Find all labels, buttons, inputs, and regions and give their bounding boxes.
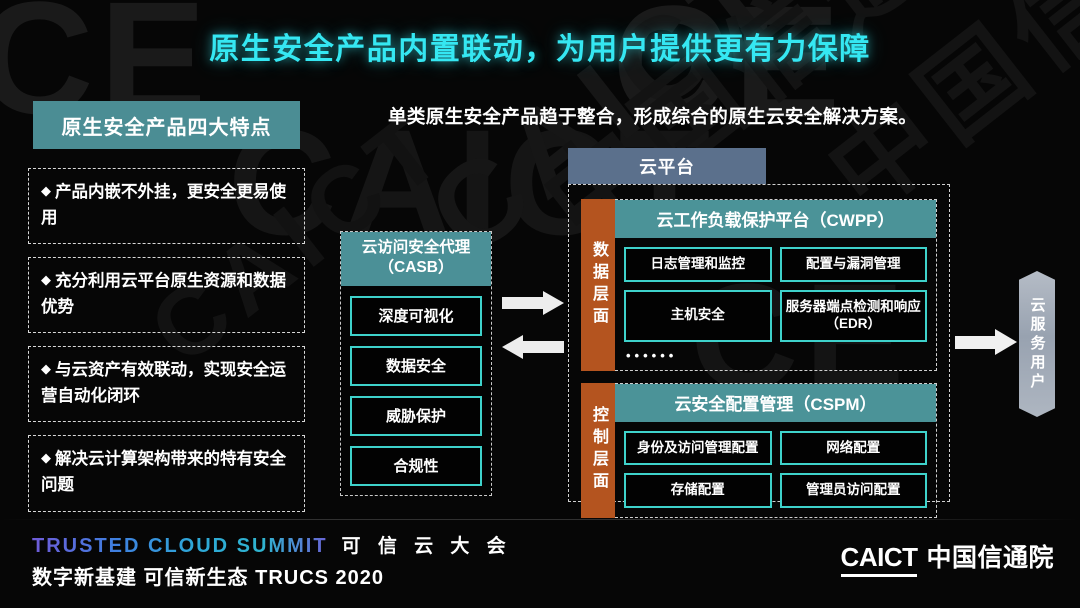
footer-divider xyxy=(0,519,1080,520)
arrow-shaft xyxy=(955,336,997,349)
cwpp-cell: 配置与漏洞管理 xyxy=(780,247,928,282)
list-item-label: 与云资产有效联动，实现安全运营自动化闭环 xyxy=(41,361,286,405)
arrow-left-icon xyxy=(502,336,564,358)
cspm-grid: 身份及访问管理配置 网络配置 存储配置 管理员访问配置 xyxy=(615,422,936,517)
layer-side-label: 控制层面 xyxy=(581,383,615,518)
diamond-bullet-icon: ◆ xyxy=(41,361,51,376)
footer-brand-en: TRUSTED CLOUD SUMMIT xyxy=(32,535,328,558)
list-item: ◆与云资产有效联动，实现安全运营自动化闭环 xyxy=(28,346,305,422)
footer-brand-row: TRUSTED CLOUD SUMMIT 可 信 云 大 会 xyxy=(32,531,512,558)
bidirectional-arrows xyxy=(502,292,576,358)
layer-data: 数据层面 云工作负载保护平台（CWPP） 日志管理和监控 配置与漏洞管理 主机安… xyxy=(581,199,937,371)
list-item-label: 解决云计算架构带来的特有安全问题 xyxy=(41,450,286,494)
list-item-label: 充分利用云平台原生资源和数据优势 xyxy=(41,272,286,316)
arrow-shaft xyxy=(522,341,564,353)
layer-body: 云工作负载保护平台（CWPP） 日志管理和监控 配置与漏洞管理 主机安全 服务器… xyxy=(615,199,937,371)
arrow-shaft xyxy=(502,297,544,309)
casb-item: 数据安全 xyxy=(350,346,482,386)
cwpp-grid: 日志管理和监控 配置与漏洞管理 主机安全 服务器端点检测和响应（EDR） xyxy=(615,238,936,346)
list-item: ◆产品内嵌不外挂，更安全更易使用 xyxy=(28,168,305,244)
org-abbr: CAICT xyxy=(841,542,918,577)
feature-list: ◆产品内嵌不外挂，更安全更易使用 ◆充分利用云平台原生资源和数据优势 ◆与云资产… xyxy=(28,168,305,525)
arrow-right-icon xyxy=(955,330,1017,354)
footer-brand: TRUSTED CLOUD SUMMIT 可 信 云 大 会 数字新基建 可信新… xyxy=(32,531,512,590)
cwpp-cell: 主机安全 xyxy=(624,290,772,342)
list-item-label: 产品内嵌不外挂，更安全更易使用 xyxy=(41,183,286,227)
arrow-right-icon xyxy=(502,292,564,314)
footer-brand-cn: 可 信 云 大 会 xyxy=(342,531,512,558)
arrow-head xyxy=(543,291,564,315)
diamond-bullet-icon: ◆ xyxy=(41,450,51,465)
slide-root: CE CE CAICT CE CAICT 中国信通院 中国信通院 CAICT 原… xyxy=(0,0,1080,608)
slide-subtitle: 单类原生安全产品趋于整合，形成综合的原生云安全解决方案。 xyxy=(388,103,917,129)
layer-side-label: 数据层面 xyxy=(581,199,615,371)
list-item: ◆充分利用云平台原生资源和数据优势 xyxy=(28,257,305,333)
cspm-cell: 身份及访问管理配置 xyxy=(624,431,772,466)
slide-title-bar: 原生安全产品内置联动，为用户提供更有力保障 xyxy=(0,24,1080,68)
list-item: ◆解决云计算架构带来的特有安全问题 xyxy=(28,435,305,511)
left-panel-heading: 原生安全产品四大特点 xyxy=(33,101,300,149)
casb-title: 云访问安全代理（CASB） xyxy=(341,232,491,286)
casb-item: 合规性 xyxy=(350,446,482,486)
cspm-cell: 网络配置 xyxy=(780,431,928,466)
cspm-cell: 管理员访问配置 xyxy=(780,473,928,508)
cloud-platform-heading: 云平台 xyxy=(568,148,766,184)
diamond-bullet-icon: ◆ xyxy=(41,272,51,287)
layer-control: 控制层面 云安全配置管理（CSPM） 身份及访问管理配置 网络配置 存储配置 管… xyxy=(581,383,937,518)
cwpp-cell: 日志管理和监控 xyxy=(624,247,772,282)
cloud-service-user-badge: 云服务用户 xyxy=(1019,271,1055,417)
page-title: 原生安全产品内置联动，为用户提供更有力保障 xyxy=(0,24,1080,68)
cloud-platform-box: 数据层面 云工作负载保护平台（CWPP） 日志管理和监控 配置与漏洞管理 主机安… xyxy=(568,184,950,502)
ellipsis-indicator: •••••• xyxy=(615,346,936,370)
footer-tagline: 数字新基建 可信新生态 TRUCS 2020 xyxy=(32,561,512,590)
casb-item-list: 深度可视化 数据安全 威胁保护 合规性 xyxy=(341,286,491,486)
cwpp-title: 云工作负载保护平台（CWPP） xyxy=(615,200,936,238)
cwpp-cell: 服务器端点检测和响应（EDR） xyxy=(780,290,928,342)
cspm-cell: 存储配置 xyxy=(624,473,772,508)
diamond-bullet-icon: ◆ xyxy=(41,183,51,198)
cspm-title: 云安全配置管理（CSPM） xyxy=(615,384,936,422)
casb-panel: 云访问安全代理（CASB） 深度可视化 数据安全 威胁保护 合规性 xyxy=(340,231,492,496)
casb-item: 深度可视化 xyxy=(350,296,482,336)
arrow-head xyxy=(502,335,523,359)
layer-body: 云安全配置管理（CSPM） 身份及访问管理配置 网络配置 存储配置 管理员访问配… xyxy=(615,383,937,518)
org-logo: CAICT 中国信通院 xyxy=(841,538,1054,577)
org-name-cn: 中国信通院 xyxy=(926,538,1054,574)
arrow-head xyxy=(995,329,1017,355)
casb-item: 威胁保护 xyxy=(350,396,482,436)
